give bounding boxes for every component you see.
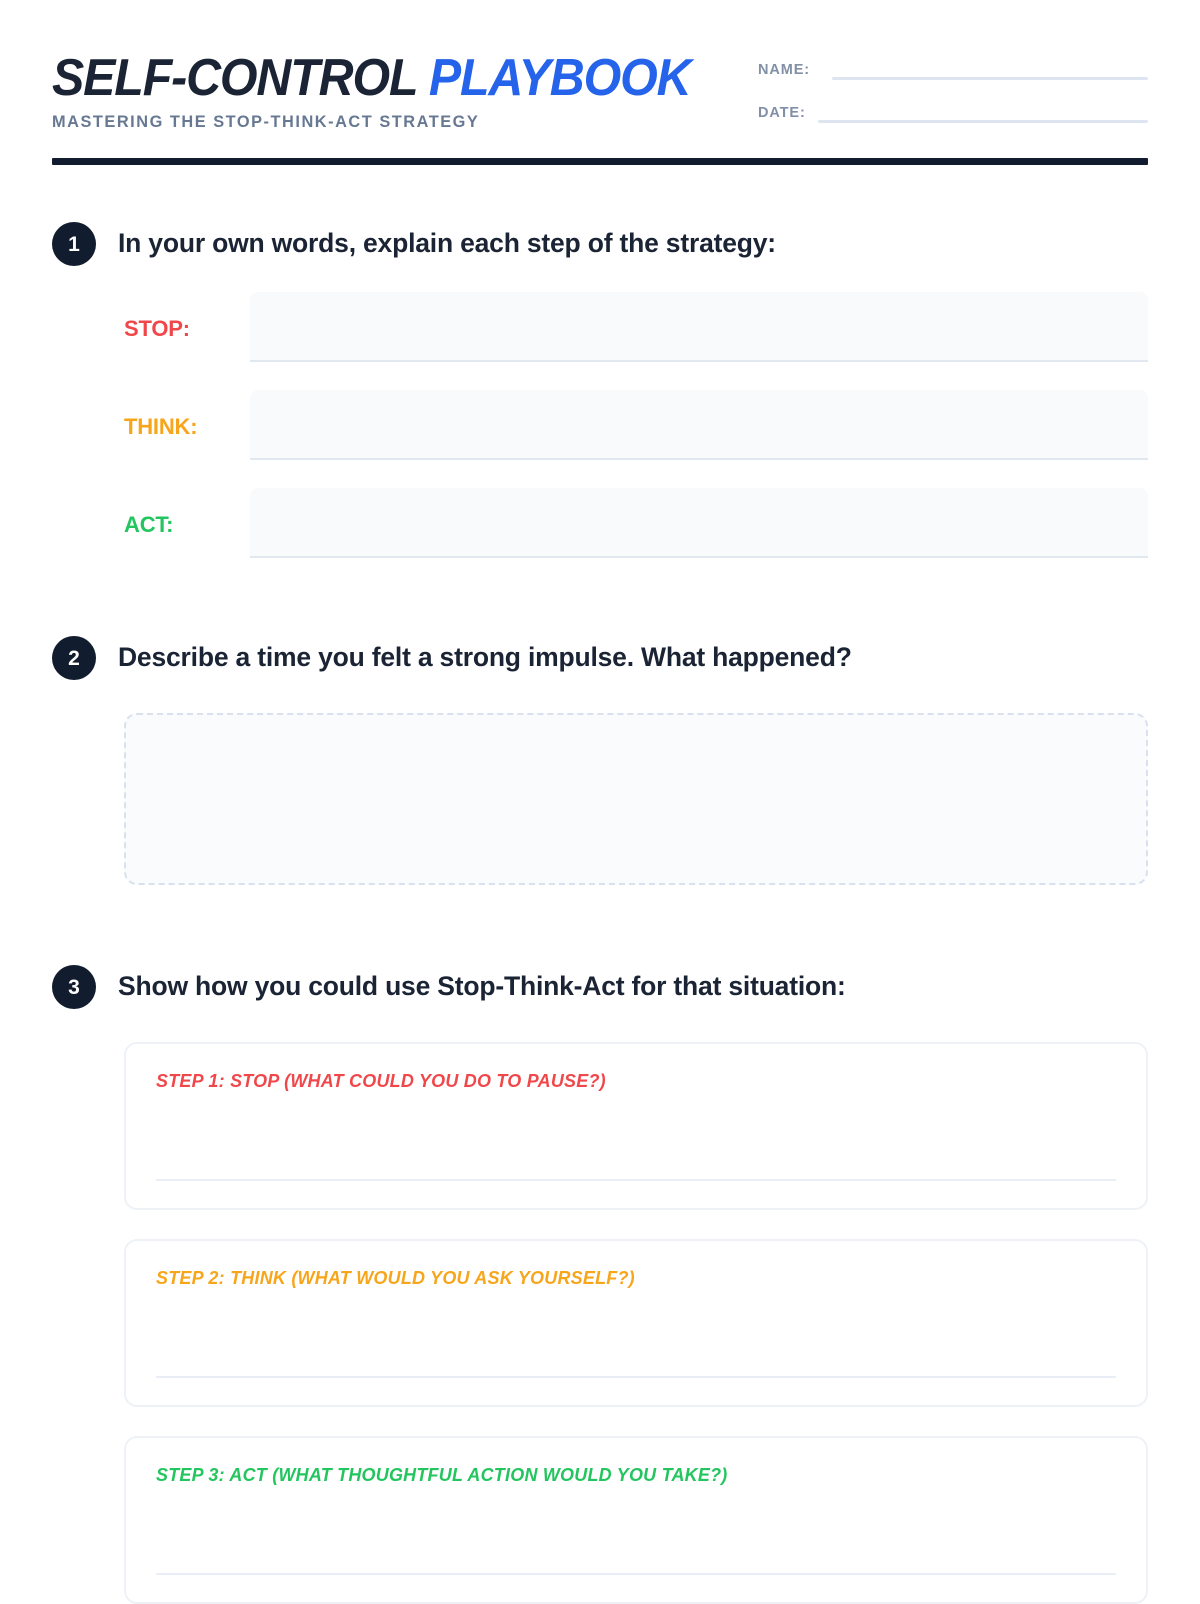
act-label: ACT: bbox=[52, 514, 250, 558]
question-3-heading: 3 Show how you could use Stop-Think-Act … bbox=[52, 965, 1148, 1009]
think-label: THINK: bbox=[52, 416, 250, 460]
step-2-answer-input[interactable] bbox=[156, 1376, 1116, 1378]
name-label: NAME: bbox=[758, 62, 822, 80]
act-answer-input[interactable] bbox=[250, 488, 1148, 558]
question-2-prompt: Describe a time you felt a strong impuls… bbox=[118, 642, 852, 674]
brand-block: SELF-CONTROL PLAYBOOK MASTERING THE STOP… bbox=[52, 48, 738, 132]
question-1-prompt: In your own words, explain each step of … bbox=[118, 228, 776, 260]
page-title: SELF-CONTROL PLAYBOOK bbox=[52, 52, 690, 104]
stop-label: STOP: bbox=[52, 318, 250, 362]
step-card-list: STEP 1: STOP (WHAT COULD YOU DO TO PAUSE… bbox=[124, 1042, 1148, 1604]
header-divider bbox=[52, 158, 1148, 165]
question-3-prompt: Show how you could use Stop-Think-Act fo… bbox=[118, 971, 846, 1003]
step-1-title: STEP 1: STOP (WHAT COULD YOU DO TO PAUSE… bbox=[156, 1072, 1087, 1091]
fill-row-act: ACT: bbox=[52, 488, 1148, 558]
worksheet-page: SELF-CONTROL PLAYBOOK MASTERING THE STOP… bbox=[0, 0, 1200, 1600]
step-card-stop: STEP 1: STOP (WHAT COULD YOU DO TO PAUSE… bbox=[124, 1042, 1148, 1210]
question-3-number-badge: 3 bbox=[52, 965, 96, 1009]
question-1-number-badge: 1 bbox=[52, 222, 96, 266]
question-2-number-badge: 2 bbox=[52, 636, 96, 680]
strategy-definition-list: STOP: THINK: ACT: bbox=[52, 292, 1148, 558]
impulse-story-textarea[interactable] bbox=[124, 713, 1148, 885]
fill-row-stop: STOP: bbox=[52, 292, 1148, 362]
worksheet-header: SELF-CONTROL PLAYBOOK MASTERING THE STOP… bbox=[52, 0, 1148, 132]
date-label: DATE: bbox=[758, 105, 818, 123]
fill-row-think: THINK: bbox=[52, 390, 1148, 460]
think-answer-input[interactable] bbox=[250, 390, 1148, 460]
step-card-think: STEP 2: THINK (WHAT WOULD YOU ASK YOURSE… bbox=[124, 1239, 1148, 1407]
step-3-answer-input[interactable] bbox=[156, 1573, 1116, 1575]
step-1-answer-input[interactable] bbox=[156, 1179, 1116, 1181]
step-3-title: STEP 3: ACT (WHAT THOUGHTFUL ACTION WOUL… bbox=[156, 1466, 1087, 1485]
step-card-act: STEP 3: ACT (WHAT THOUGHTFUL ACTION WOUL… bbox=[124, 1436, 1148, 1604]
name-field-row: NAME: bbox=[758, 62, 1148, 80]
page-subtitle: MASTERING THE STOP-THINK-ACT STRATEGY bbox=[52, 113, 732, 132]
stop-answer-input[interactable] bbox=[250, 292, 1148, 362]
student-meta-block: NAME: DATE: bbox=[758, 48, 1148, 123]
step-2-title: STEP 2: THINK (WHAT WOULD YOU ASK YOURSE… bbox=[156, 1269, 1087, 1288]
title-dark-part: SELF-CONTROL bbox=[52, 49, 417, 107]
name-input[interactable] bbox=[832, 77, 1148, 80]
date-input[interactable] bbox=[818, 120, 1148, 123]
title-blue-part: PLAYBOOK bbox=[429, 49, 691, 107]
date-field-row: DATE: bbox=[758, 105, 1148, 123]
question-2-heading: 2 Describe a time you felt a strong impu… bbox=[52, 636, 1148, 680]
question-1-heading: 1 In your own words, explain each step o… bbox=[52, 222, 1148, 266]
